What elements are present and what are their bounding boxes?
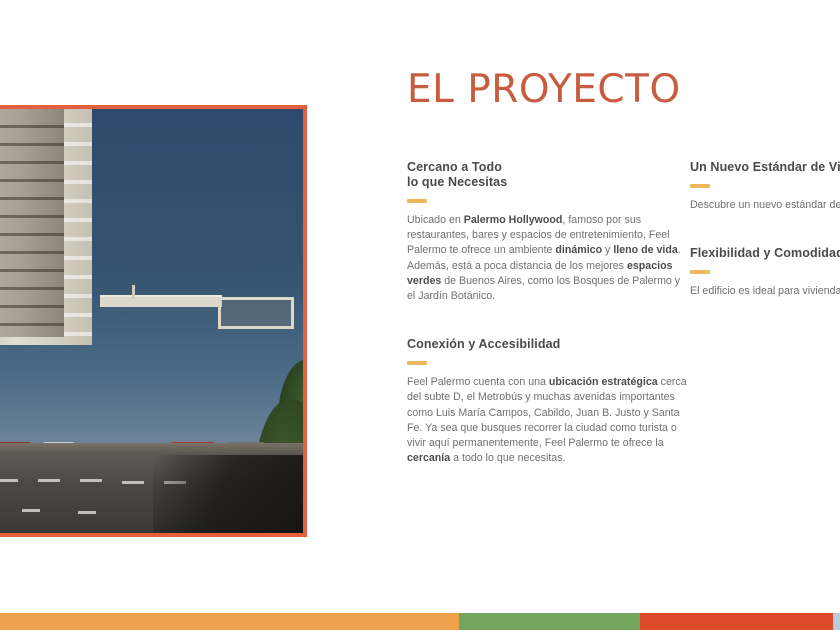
block-heading: Conexión y Accesibilidad — [407, 337, 690, 352]
building-parapet — [100, 295, 222, 307]
building-photograph — [0, 109, 303, 533]
block-body: Feel Palermo cuenta con una ubicación es… — [407, 375, 690, 466]
column-right: Un Nuevo Estándar de Vida Descubre un nu… — [690, 160, 840, 499]
heading-rule — [690, 270, 710, 274]
project-photo — [0, 105, 307, 537]
brochure-slide: EL PROYECTO Cercano a Todo lo que Necesi… — [0, 0, 840, 630]
building-right-wing — [0, 109, 64, 337]
content-panel: EL PROYECTO Cercano a Todo lo que Necesi… — [407, 0, 840, 630]
footer-segment-blue — [833, 613, 840, 630]
heading-rule — [407, 199, 427, 203]
street-shadow — [153, 455, 303, 533]
block-conexion-y-accesibilidad: Conexión y Accesibilidad Feel Palermo cu… — [407, 337, 690, 466]
page-title: EL PROYECTO — [407, 67, 681, 112]
footer-segment-red — [640, 613, 833, 630]
block-body: El edificio es ideal para vivienda, uso … — [690, 284, 840, 299]
footer-segment-orange — [0, 613, 459, 630]
block-body: Descubre un nuevo estándar de vida en el… — [690, 198, 840, 213]
text-columns: Cercano a Todo lo que Necesitas Ubicado … — [407, 160, 840, 499]
heading-rule — [407, 361, 427, 365]
block-un-nuevo-estandar-de-vida: Un Nuevo Estándar de Vida Descubre un nu… — [690, 160, 840, 213]
footer-segment-green — [459, 613, 640, 630]
block-body: Ubicado en Palermo Hollywood, famoso por… — [407, 213, 690, 304]
block-heading: Un Nuevo Estándar de Vida — [690, 160, 840, 175]
sidewalk-curb — [0, 443, 303, 455]
street-asphalt — [0, 455, 303, 533]
block-flexibilidad-y-comodidad: Flexibilidad y Comodidad El edificio es … — [690, 246, 840, 299]
rooftop-terrace-frame — [218, 297, 294, 329]
block-heading: Cercano a Todo lo que Necesitas — [407, 160, 690, 190]
column-left: Cercano a Todo lo que Necesitas Ubicado … — [407, 160, 690, 499]
rooftop-antenna — [132, 285, 135, 299]
block-cercano-a-todo: Cercano a Todo lo que Necesitas Ubicado … — [407, 160, 690, 304]
block-heading: Flexibilidad y Comodidad — [690, 246, 840, 261]
heading-rule — [690, 184, 710, 188]
footer-color-bar — [0, 613, 840, 630]
